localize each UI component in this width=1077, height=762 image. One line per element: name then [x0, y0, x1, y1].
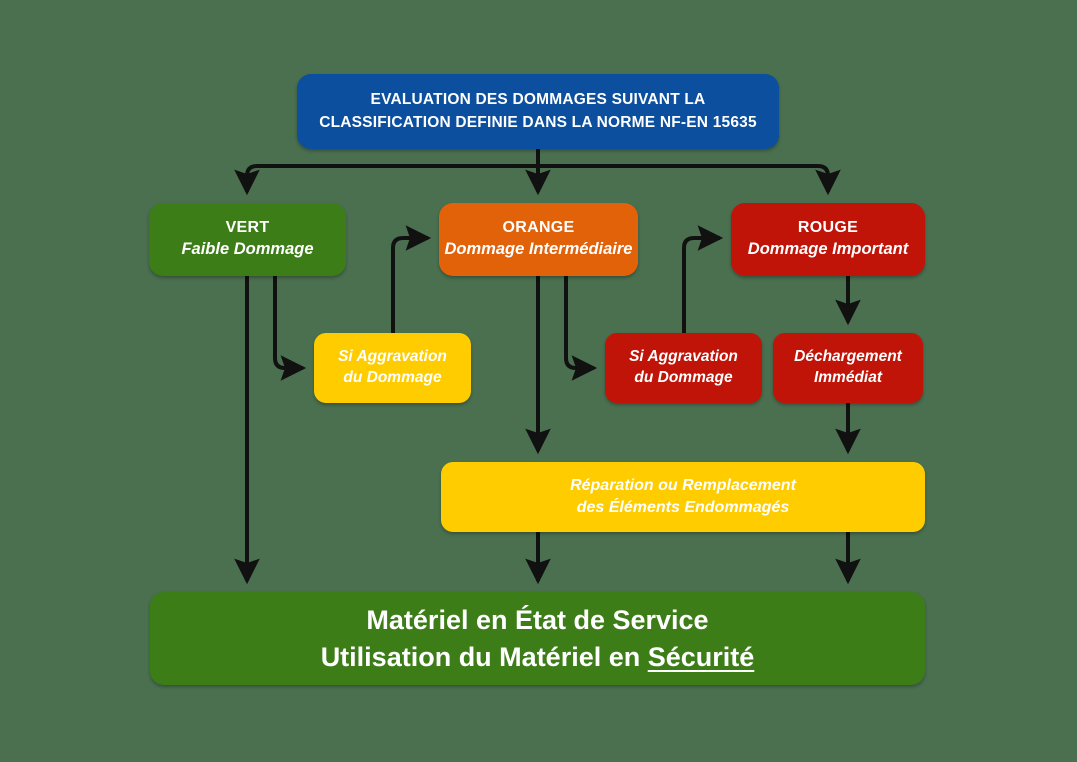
connector-bar-right [538, 166, 828, 192]
reparation-line-1: Réparation ou Remplacement [570, 475, 796, 497]
action-aggravation-vert-line-1: Si Aggravation [338, 347, 447, 368]
category-orange-code: ORANGE [502, 218, 574, 239]
connector-aggrav-to-rouge [684, 238, 720, 333]
final-line-1: Matériel en État de Service [366, 602, 708, 638]
category-rouge-code: ROUGE [798, 218, 858, 239]
header-line-1: EVALUATION DES DOMMAGES SUIVANT LA [371, 89, 706, 111]
action-box-aggravation-vert: Si Aggravation du Dommage [314, 333, 471, 403]
action-dechargement-line-2: Immédiat [814, 368, 882, 389]
category-vert-description: Faible Dommage [181, 239, 313, 260]
header-line-2: CLASSIFICATION DEFINIE DANS LA NORME NF-… [319, 112, 757, 134]
connector-orange-to-aggrav [566, 276, 594, 368]
reparation-box: Réparation ou Remplacement des Éléments … [441, 462, 925, 532]
final-line-2: Utilisation du Matériel en Sécurité [321, 639, 755, 675]
category-rouge-description: Dommage Important [748, 239, 908, 260]
final-outcome-box: Matériel en État de Service Utilisation … [150, 592, 925, 685]
category-orange-description: Dommage Intermédiaire [445, 239, 633, 260]
category-box-rouge: ROUGE Dommage Important [731, 203, 925, 276]
reparation-line-2: des Éléments Endommagés [577, 497, 790, 519]
action-box-aggravation-orange: Si Aggravation du Dommage [605, 333, 762, 403]
action-aggravation-orange-line-2: du Dommage [634, 368, 732, 389]
action-aggravation-orange-line-1: Si Aggravation [629, 347, 738, 368]
action-aggravation-vert-line-2: du Dommage [343, 368, 441, 389]
connector-bar-left [247, 166, 538, 192]
connector-vert-to-aggrav [275, 276, 303, 368]
connector-aggrav-to-orange [393, 238, 428, 333]
action-box-dechargement-immediat: Déchargement Immédiat [773, 333, 923, 403]
category-box-vert: VERT Faible Dommage [149, 203, 346, 276]
category-box-orange: ORANGE Dommage Intermédiaire [439, 203, 638, 276]
header-evaluation-box: EVALUATION DES DOMMAGES SUIVANT LA CLASS… [297, 74, 779, 149]
category-vert-code: VERT [226, 218, 270, 239]
final-line-2-emphasis: Sécurité [648, 642, 755, 672]
final-line-2-prefix: Utilisation du Matériel en [321, 642, 648, 672]
flowchart-canvas: EVALUATION DES DOMMAGES SUIVANT LA CLASS… [0, 0, 1077, 762]
action-dechargement-line-1: Déchargement [794, 347, 902, 368]
